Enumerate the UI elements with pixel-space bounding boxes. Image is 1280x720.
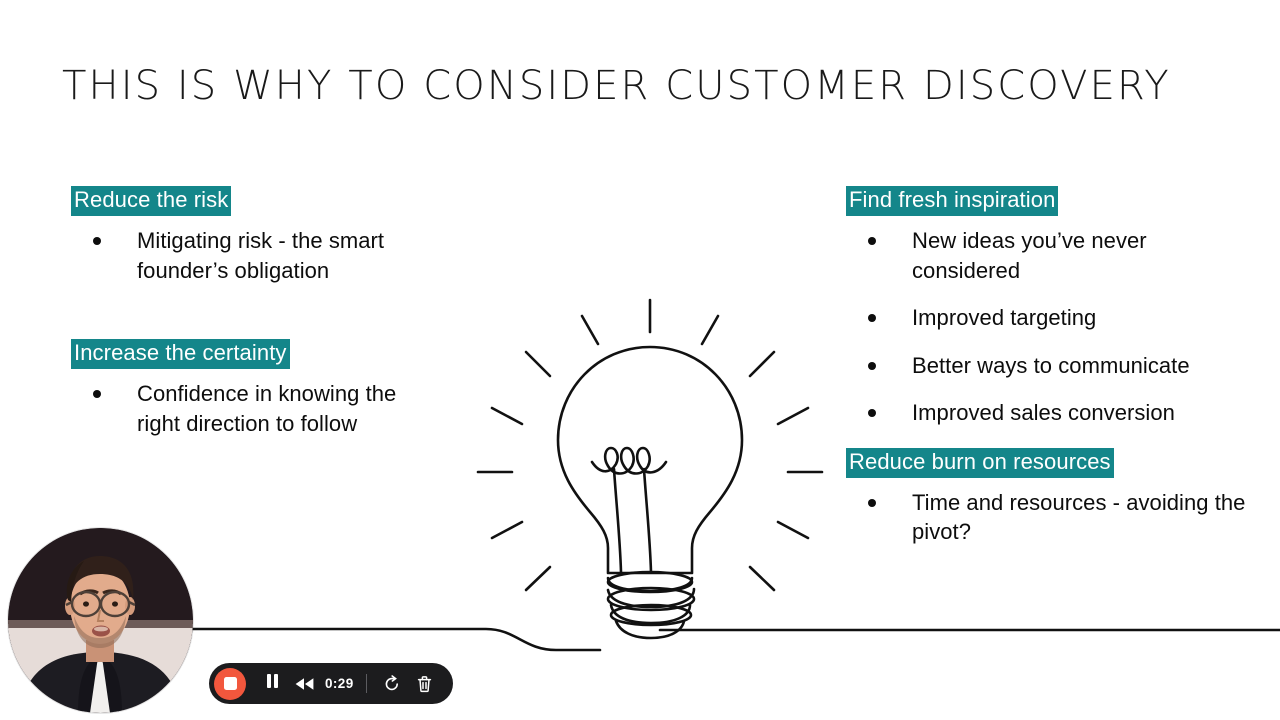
list-item-label: Confidence in knowing the right directio… bbox=[137, 381, 396, 436]
stop-square-icon bbox=[224, 677, 237, 690]
list-item-label: New ideas you’ve never considered bbox=[912, 228, 1147, 283]
content-block: Find fresh inspiration New ideas you’ve … bbox=[846, 186, 1246, 428]
block-heading: Reduce the risk bbox=[71, 186, 231, 216]
avatar[interactable] bbox=[8, 528, 193, 713]
list-item-label: Better ways to communicate bbox=[912, 353, 1190, 378]
list-item: Mitigating risk - the smart founder’s ob… bbox=[71, 226, 411, 285]
list-item: Improved targeting bbox=[846, 303, 1246, 333]
bullet-dot-icon bbox=[868, 409, 876, 417]
list-item: Improved sales conversion bbox=[846, 398, 1246, 428]
list-item-label: Mitigating risk - the smart founder’s ob… bbox=[137, 228, 384, 283]
list-item-label: Time and resources - avoiding the pivot? bbox=[912, 490, 1245, 545]
content-block: Increase the certainty Confidence in kno… bbox=[71, 339, 411, 438]
pause-button[interactable] bbox=[259, 671, 285, 697]
list-item: Time and resources - avoiding the pivot? bbox=[846, 488, 1246, 547]
list-item: Better ways to communicate bbox=[846, 351, 1246, 381]
bullet-dot-icon bbox=[93, 390, 101, 398]
slide-canvas: THIS IS WHY TO CONSIDER CUSTOMER DISCOVE… bbox=[0, 0, 1280, 720]
block-heading: Find fresh inspiration bbox=[846, 186, 1058, 216]
list-item-label: Improved sales conversion bbox=[912, 400, 1175, 425]
bullet-dot-icon bbox=[93, 237, 101, 245]
rewind-button[interactable] bbox=[291, 671, 317, 697]
bullet-dot-icon bbox=[868, 237, 876, 245]
list-item-label: Improved targeting bbox=[912, 305, 1096, 330]
block-heading: Increase the certainty bbox=[71, 339, 290, 369]
bullet-dot-icon bbox=[868, 499, 876, 507]
page-title: THIS IS WHY TO CONSIDER CUSTOMER DISCOVE… bbox=[62, 63, 1222, 109]
content-block: Reduce burn on resources Time and resour… bbox=[846, 448, 1246, 547]
delete-button[interactable] bbox=[412, 671, 438, 697]
content-block: Reduce the risk Mitigating risk - the sm… bbox=[71, 186, 411, 285]
bullet-list: New ideas you’ve never considered Improv… bbox=[846, 226, 1246, 428]
block-heading: Reduce burn on resources bbox=[846, 448, 1114, 478]
right-content-column: Find fresh inspiration New ideas you’ve … bbox=[846, 186, 1246, 547]
pause-icon bbox=[267, 674, 271, 688]
list-item: Confidence in knowing the right directio… bbox=[71, 379, 411, 438]
bullet-list: Mitigating risk - the smart founder’s ob… bbox=[71, 226, 411, 285]
lightbulb-icon bbox=[440, 290, 860, 650]
left-content-column: Reduce the risk Mitigating risk - the sm… bbox=[71, 186, 411, 438]
bullet-list: Time and resources - avoiding the pivot? bbox=[846, 488, 1246, 547]
bullet-list: Confidence in knowing the right directio… bbox=[71, 379, 411, 438]
recording-toolbar[interactable]: 0:29 bbox=[209, 663, 453, 704]
bullet-dot-icon bbox=[868, 362, 876, 370]
recording-timer: 0:29 bbox=[325, 676, 354, 691]
pause-icon bbox=[274, 674, 278, 688]
list-item: New ideas you’ve never considered bbox=[846, 226, 1246, 285]
restart-button[interactable] bbox=[379, 671, 405, 697]
bullet-dot-icon bbox=[868, 314, 876, 322]
divider bbox=[366, 674, 367, 693]
stop-recording-button[interactable] bbox=[214, 668, 246, 700]
